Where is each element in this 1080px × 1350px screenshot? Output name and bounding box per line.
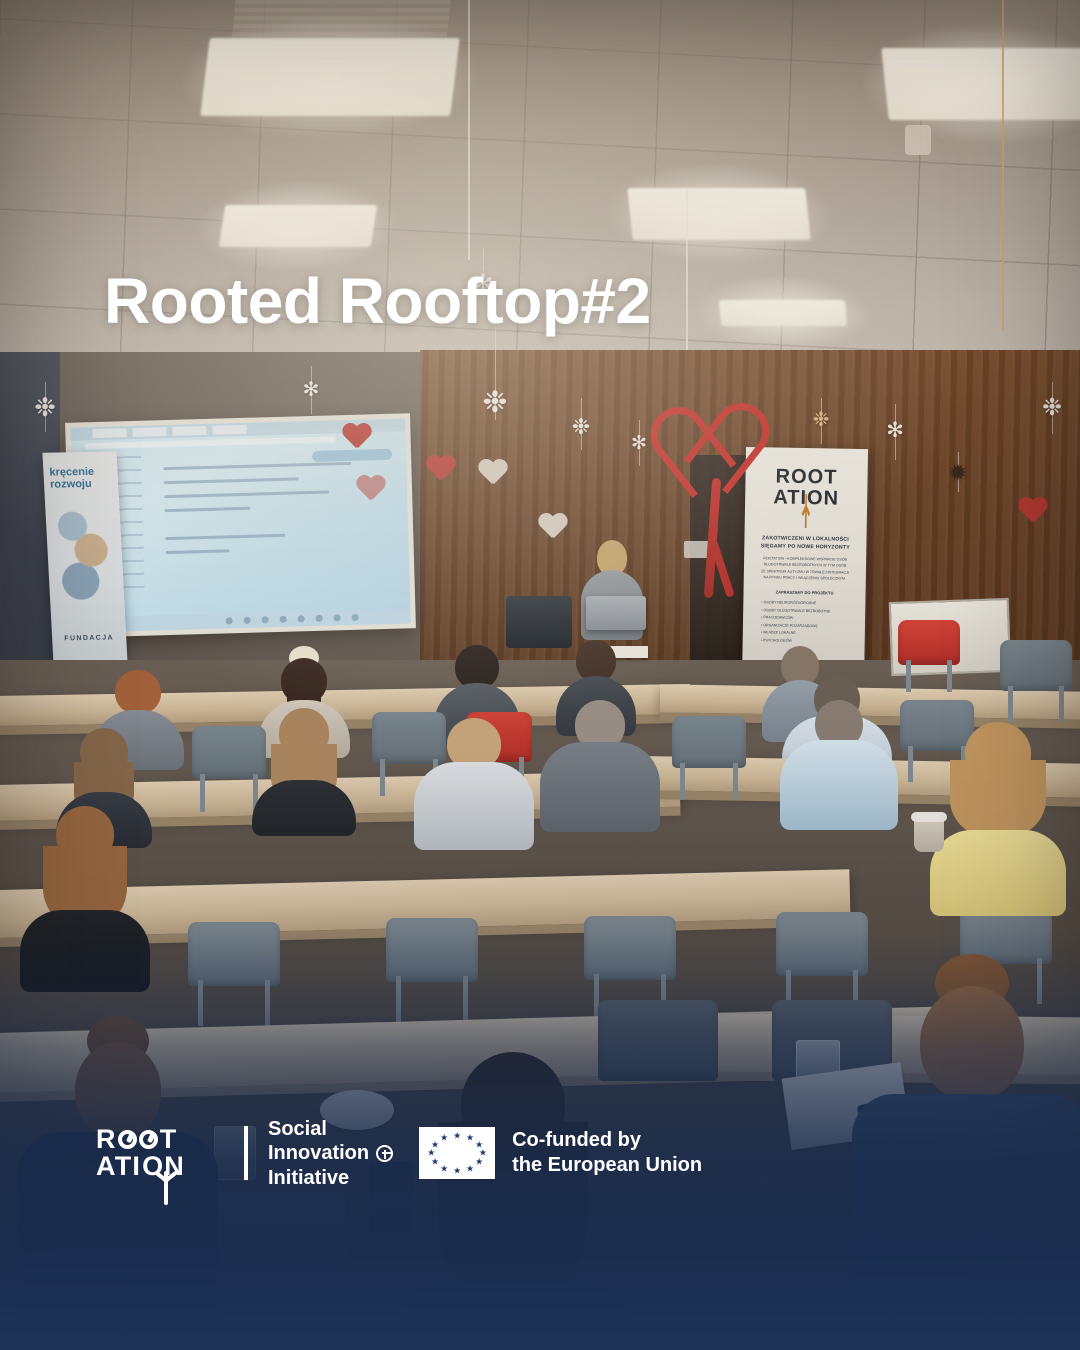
heart-decoration xyxy=(1018,498,1052,528)
foundation-banner-artwork xyxy=(55,504,115,615)
chair xyxy=(898,620,960,692)
hanging-wire xyxy=(1002,0,1004,330)
heart-decoration xyxy=(342,424,372,452)
rollup-invite-heading: ZAPRASZAMY DO PROJEKTU xyxy=(752,589,856,596)
chair xyxy=(1000,640,1072,722)
footer-logo-lockup: R T ATI ON Social Innovation Initiative xyxy=(96,1117,702,1190)
rollup-headline: ZAKOTWICZENI W LOKALNOŚCI SIĘGAMY PO NOW… xyxy=(752,535,858,552)
letters-ati: ATI xyxy=(96,1154,141,1180)
ceiling-light-panel xyxy=(627,188,810,240)
attendee xyxy=(780,700,898,828)
root-icon xyxy=(154,1171,178,1205)
rollup-body-text: ROOTATION - KOMPLEKSOWE WSPARCIE OSÓB DŁ… xyxy=(753,555,857,582)
o-ring-icon xyxy=(139,1130,158,1149)
rootation-logo: R T ATI ON xyxy=(96,1127,228,1180)
ceiling xyxy=(0,0,1080,400)
foundation-banner: kręcenie rozwoju FUNDACJA xyxy=(42,451,127,664)
heart-decoration xyxy=(356,476,374,492)
rootation-logo-line1: R T xyxy=(96,1127,228,1153)
partner-line-2: Innovation xyxy=(268,1141,369,1165)
attendee xyxy=(930,722,1066,912)
attendee xyxy=(414,718,534,848)
partner-line-1: Social xyxy=(268,1117,393,1141)
chair xyxy=(188,922,280,1026)
chair xyxy=(196,1192,346,1350)
coffee-cup xyxy=(914,818,944,852)
page-title: Rooted Rooftop#2 xyxy=(104,269,744,333)
heart-decoration xyxy=(538,514,580,552)
attendee-foreground xyxy=(852,954,1080,1350)
social-innovation-initiative-lockup: Social Innovation Initiative xyxy=(268,1117,393,1190)
ceiling-light-panel xyxy=(200,38,460,116)
eu-funding-lockup: ★ ★ ★ ★ ★ ★ ★ ★ ★ ★ ★ ★ Co-funded by the… xyxy=(419,1127,702,1179)
european-union-flag: ★ ★ ★ ★ ★ ★ ★ ★ ★ ★ ★ ★ xyxy=(419,1127,495,1179)
browser-tabs xyxy=(92,424,252,437)
smoke-detector-icon xyxy=(905,125,931,155)
heart-decoration xyxy=(426,456,448,476)
document-text-lines xyxy=(163,462,353,565)
hanging-snowflake: ❉ xyxy=(32,382,58,432)
hanging-snowflake: ✻ xyxy=(300,366,322,414)
plus-circle-icon xyxy=(376,1145,393,1162)
hanging-pinecone: ✹ xyxy=(946,452,970,492)
partner-line-3: Initiative xyxy=(268,1166,393,1190)
presenter-laptop xyxy=(586,596,646,630)
o-ring-icon xyxy=(118,1130,137,1149)
rollup-audience-list: OSOBY NEURORÓŻNORODNE OSOBY DŁUGOTRWALE … xyxy=(761,599,857,646)
attendee-foreground xyxy=(398,1052,628,1350)
foundation-banner-footer: FUNDACJA xyxy=(52,634,126,642)
eu-funding-text: Co-funded by the European Union xyxy=(512,1128,702,1178)
letter-r: R xyxy=(96,1127,117,1153)
hanging-snowflake: ✻ xyxy=(628,420,650,466)
chair xyxy=(386,918,478,1022)
attendee xyxy=(540,700,660,830)
attendee xyxy=(20,806,150,986)
attendee xyxy=(252,708,356,832)
eu-text-line-1: Co-funded by xyxy=(512,1128,702,1153)
chair xyxy=(672,716,746,800)
hanging-snowflake: ❉ xyxy=(810,398,832,444)
logo-divider xyxy=(244,1126,248,1180)
ceiling-light-panel xyxy=(219,205,378,247)
hanging-snowflake: ❉ xyxy=(570,398,592,450)
foundation-banner-title: kręcenie rozwoju xyxy=(49,466,95,491)
hanging-snowflake: ❉ xyxy=(1040,382,1064,434)
hanging-wire xyxy=(468,0,470,260)
letter-t: T xyxy=(160,1127,178,1153)
red-knitted-heart-decoration xyxy=(660,400,770,520)
partner-line-2-row: Innovation xyxy=(268,1141,393,1165)
social-post-image: kręcenie rozwoju FUNDACJA ROOT ATION ZAK… xyxy=(0,0,1080,1350)
eu-text-line-2: the European Union xyxy=(512,1153,702,1178)
heart-decoration xyxy=(478,460,500,480)
hanging-snowflake: ✻ xyxy=(884,404,906,460)
ceiling-light-panel xyxy=(881,48,1080,120)
